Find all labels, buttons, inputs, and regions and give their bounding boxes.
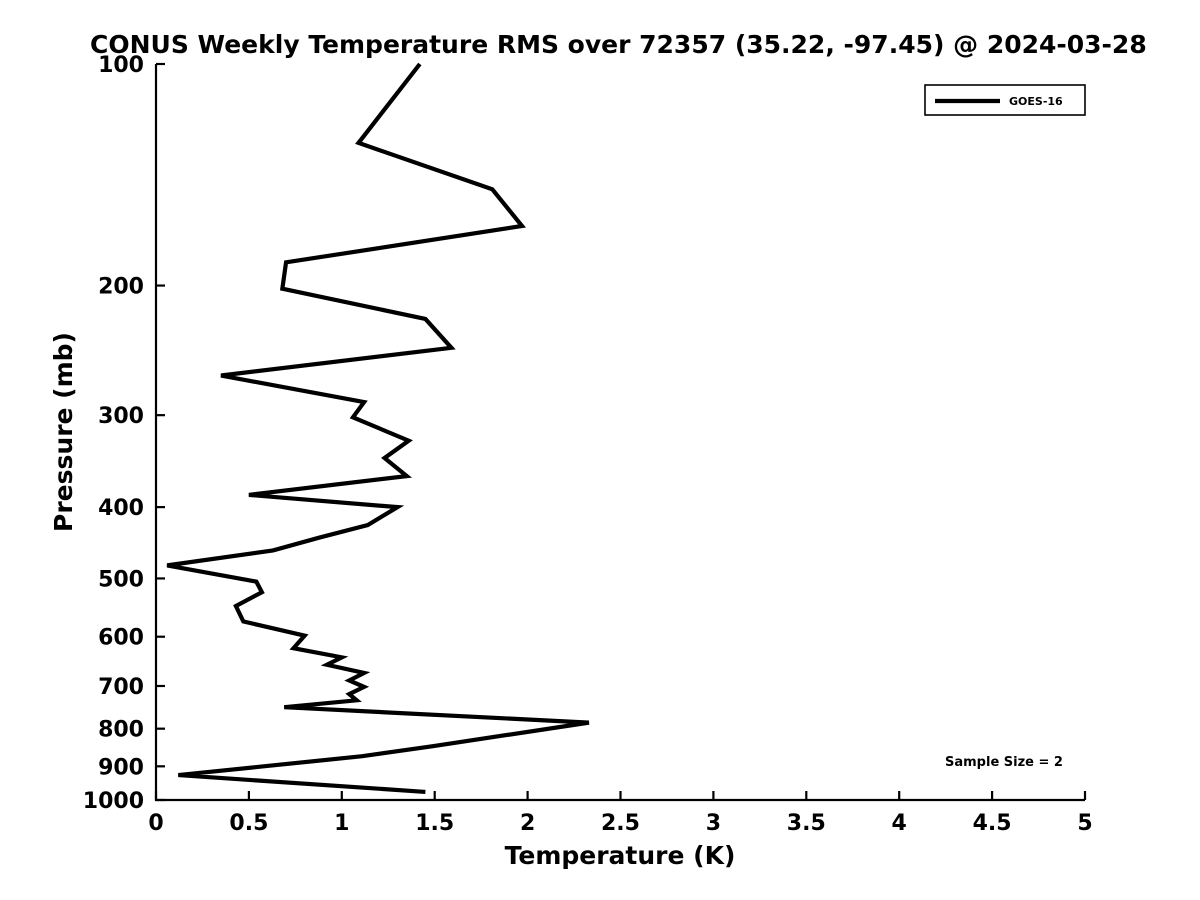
x-tick-label-3.5: 3.5 (787, 811, 826, 836)
x-tick-label-2.5: 2.5 (601, 811, 640, 836)
y-tick-label-900: 900 (98, 755, 144, 780)
x-tick-label-0: 0 (148, 811, 163, 836)
y-tick-label-1000: 1000 (83, 789, 144, 814)
data-series-group (167, 64, 589, 792)
chart-legend[interactable]: GOES-16 (925, 85, 1085, 115)
legend-label-goes-16: GOES-16 (1009, 95, 1063, 108)
x-tick-label-5: 5 (1077, 811, 1092, 836)
x-tick-label-1.5: 1.5 (415, 811, 454, 836)
x-axis-label: Temperature (K) (505, 841, 736, 870)
annotation-sample-size: Sample Size = 2 (945, 755, 1063, 770)
x-tick-label-2: 2 (520, 811, 535, 836)
chart-title: CONUS Weekly Temperature RMS over 72357 … (90, 30, 1147, 59)
axis-spines (156, 64, 1085, 800)
chart-figure: CONUS Weekly Temperature RMS over 72357 … (0, 0, 1200, 900)
y-axis-label: Pressure (mb) (49, 332, 78, 532)
y-tick-label-100: 100 (98, 53, 144, 78)
y-axis-ticks: 1002003004005006007008009001000 (83, 53, 165, 814)
x-axis-ticks: 00.511.522.533.544.55 (148, 791, 1092, 836)
y-tick-label-200: 200 (98, 275, 144, 300)
y-tick-label-500: 500 (98, 567, 144, 592)
x-tick-label-4.5: 4.5 (973, 811, 1012, 836)
y-tick-label-800: 800 (98, 718, 144, 743)
chart-svg: CONUS Weekly Temperature RMS over 72357 … (0, 0, 1200, 900)
data-line-goes-16 (167, 64, 589, 792)
y-tick-label-400: 400 (98, 496, 144, 521)
axes-frame (156, 64, 1085, 800)
y-tick-label-300: 300 (98, 404, 144, 429)
x-tick-label-4: 4 (892, 811, 907, 836)
x-tick-label-1: 1 (334, 811, 349, 836)
x-tick-label-0.5: 0.5 (229, 811, 268, 836)
chart-annotations: Sample Size = 2 (945, 755, 1063, 770)
x-tick-label-3: 3 (706, 811, 721, 836)
y-tick-label-700: 700 (98, 675, 144, 700)
y-tick-label-600: 600 (98, 626, 144, 651)
